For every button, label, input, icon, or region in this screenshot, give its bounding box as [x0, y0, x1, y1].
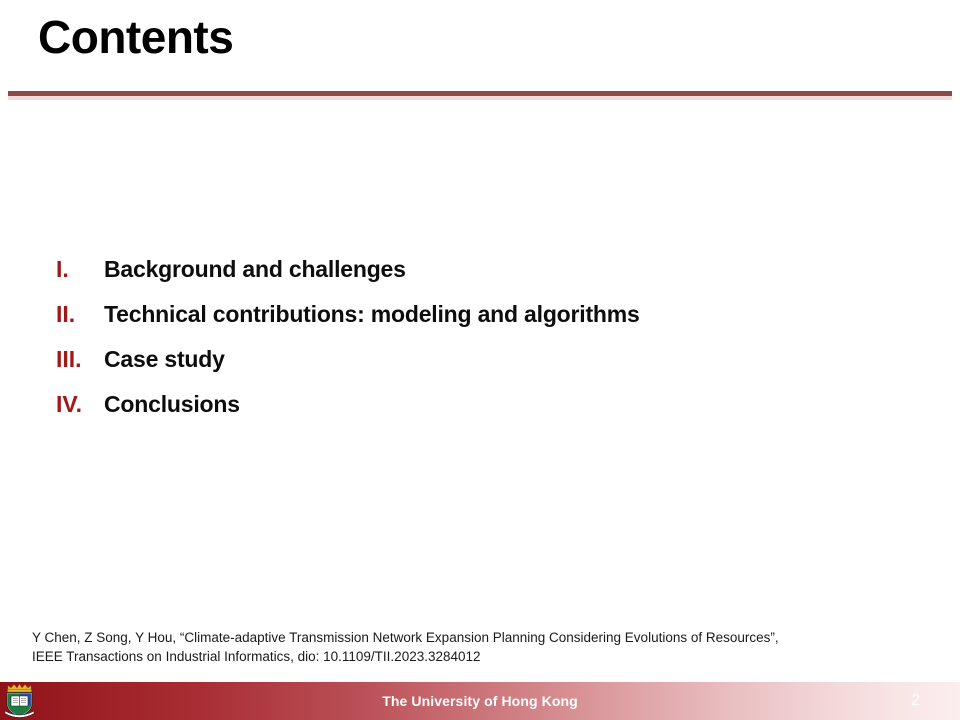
- table-of-contents: I. Background and challenges II. Technic…: [56, 256, 886, 436]
- toc-item-technical-contributions[interactable]: II. Technical contributions: modeling an…: [56, 301, 886, 328]
- toc-item-background[interactable]: I. Background and challenges: [56, 256, 886, 283]
- page-number: 2: [911, 682, 920, 720]
- toc-item-conclusions[interactable]: IV. Conclusions: [56, 391, 886, 418]
- toc-label: Case study: [104, 346, 886, 373]
- presentation-slide: Contents I. Background and challenges II…: [0, 0, 960, 720]
- toc-label: Technical contributions: modeling and al…: [104, 301, 886, 328]
- hku-crest-logo: [3, 683, 36, 718]
- toc-numeral: IV.: [56, 391, 104, 418]
- page-title: Contents: [38, 12, 233, 63]
- toc-label: Background and challenges: [104, 256, 886, 283]
- citation-line-2: IEEE Transactions on Industrial Informat…: [32, 647, 932, 666]
- divider-secondary-rule: [8, 96, 952, 100]
- citation-block: Y Chen, Z Song, Y Hou, “Climate-adaptive…: [32, 628, 932, 666]
- toc-item-case-study[interactable]: III. Case study: [56, 346, 886, 373]
- title-divider: [8, 91, 952, 100]
- toc-numeral: II.: [56, 301, 104, 328]
- toc-numeral: III.: [56, 346, 104, 373]
- footer-institution-name: The University of Hong Kong: [0, 682, 960, 720]
- toc-label: Conclusions: [104, 391, 886, 418]
- toc-numeral: I.: [56, 256, 104, 283]
- hku-crest-icon: [3, 683, 36, 718]
- slide-footer: The University of Hong Kong 2: [0, 682, 960, 720]
- citation-line-1: Y Chen, Z Song, Y Hou, “Climate-adaptive…: [32, 628, 932, 647]
